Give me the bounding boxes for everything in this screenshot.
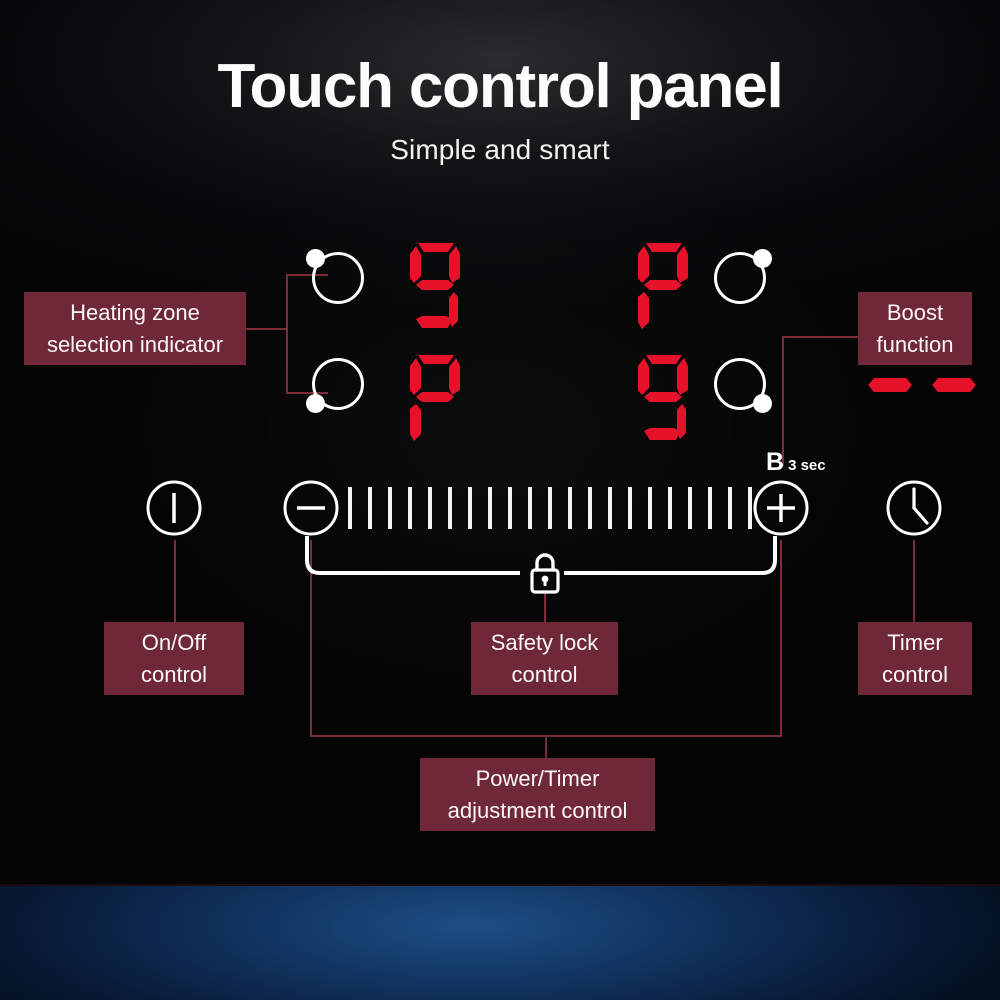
- page-title: Touch control panel: [0, 56, 1000, 118]
- callout-power-timer-line2: adjustment control: [448, 795, 628, 826]
- callout-onoff-line1: On/Off: [142, 627, 206, 658]
- zone-indicator-dot: [306, 249, 325, 268]
- callout-boost-line2: function: [876, 329, 953, 360]
- touch-control-panel-infographic: Touch control panel Simple and smart: [0, 0, 1000, 1000]
- boost-connector-horizontal: [782, 336, 862, 338]
- boost-hint-duration: 3 sec: [788, 457, 826, 474]
- timer-connector: [913, 540, 915, 622]
- boost-indicator-dashes: [868, 376, 976, 394]
- footer-blue-band: [0, 886, 1000, 1000]
- callout-boost-line1: Boost: [887, 297, 943, 328]
- callout-safety-lock-line1: Safety lock: [491, 627, 599, 658]
- heating-zone-connector-stem: [246, 328, 288, 330]
- padlock-icon[interactable]: [527, 550, 563, 599]
- callout-onoff-line2: control: [141, 659, 207, 690]
- zone-indicator-top-left[interactable]: [312, 252, 364, 304]
- led-display-top-left: [408, 240, 464, 337]
- callout-timer-line1: Timer: [887, 627, 942, 658]
- onoff-control-button[interactable]: [145, 479, 203, 537]
- zone-indicator-dot: [753, 249, 772, 268]
- boost-connector-vertical: [782, 336, 784, 466]
- callout-power-timer: Power/Timer adjustment control: [420, 758, 655, 831]
- power-slider-track[interactable]: [348, 487, 752, 529]
- led-display-top-right: [636, 240, 692, 337]
- led-display-bottom-right: [636, 352, 692, 449]
- zone-indicator-dot: [306, 394, 325, 413]
- timer-control-button[interactable]: [885, 479, 943, 537]
- onoff-connector: [174, 540, 176, 622]
- zone-indicator-dot: [753, 394, 772, 413]
- zone-indicator-top-right[interactable]: [714, 252, 766, 304]
- zone-indicator-bottom-left[interactable]: [312, 358, 364, 410]
- boost-hint-letter: B: [766, 448, 784, 477]
- callout-timer-line2: control: [882, 659, 948, 690]
- callout-safety-lock: Safety lock control: [471, 622, 618, 695]
- callout-heating-zone: Heating zone selection indicator: [24, 292, 246, 365]
- power-timer-connector-stem: [545, 735, 547, 759]
- callout-boost-function: Boost function: [858, 292, 972, 365]
- callout-heating-zone-line1: Heating zone: [70, 297, 200, 328]
- zone-indicator-bottom-right[interactable]: [714, 358, 766, 410]
- boost-hold-hint: B 3 sec: [766, 448, 826, 477]
- callout-safety-lock-line2: control: [511, 659, 577, 690]
- callout-power-timer-line1: Power/Timer: [476, 763, 600, 794]
- callout-timer-control: Timer control: [858, 622, 972, 695]
- heating-zone-connector-spine: [286, 274, 288, 394]
- boost-dash-2: [932, 376, 976, 394]
- decrease-button[interactable]: [282, 479, 340, 537]
- increase-button[interactable]: [752, 479, 810, 537]
- power-timer-connector-right: [780, 540, 782, 736]
- led-display-bottom-left: [408, 352, 464, 449]
- boost-dash-1: [868, 376, 912, 394]
- callout-onoff-control: On/Off control: [104, 622, 244, 695]
- page-subtitle: Simple and smart: [0, 134, 1000, 166]
- callout-heating-zone-line2: selection indicator: [47, 329, 223, 360]
